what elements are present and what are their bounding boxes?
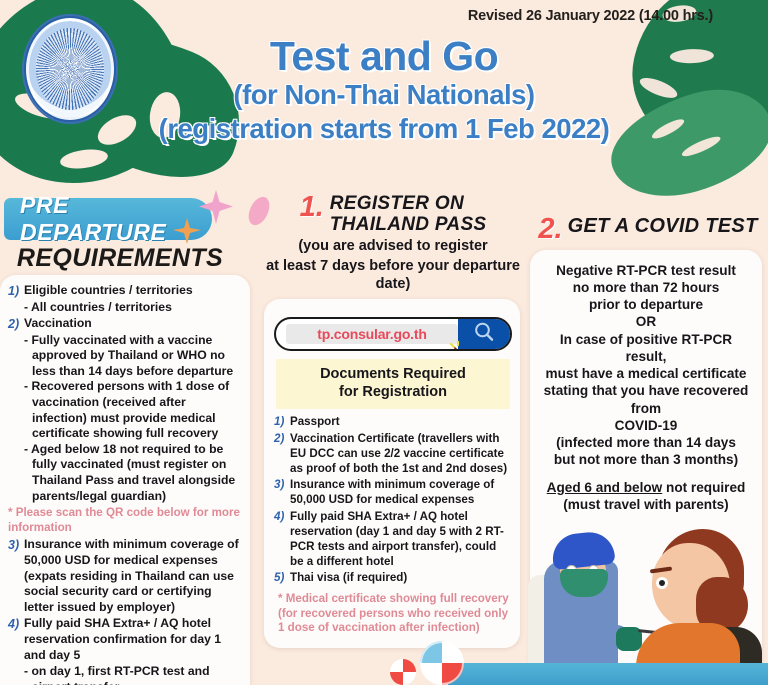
requirements-card: 1) Eligible countries / territories - Al…: [0, 275, 250, 685]
item-number: 1): [274, 415, 290, 430]
page-subtitle-2: (registration starts from 1 Feb 2022): [0, 112, 768, 146]
revised-date: Revised 26 January 2022 (14.00 hrs.): [468, 8, 713, 24]
item-number: 3): [8, 537, 24, 553]
covid-test-column: 2. GET A COVID TEST Negative RT-PCR test…: [528, 190, 768, 675]
url-search-bar[interactable]: tp.consular.go.th: [274, 317, 512, 351]
medical-certificate-note: * Medical certificate showing full recov…: [274, 592, 512, 635]
item-number: 4): [274, 510, 290, 525]
item-number: 4): [8, 616, 24, 632]
qr-note: * Please scan the QR code below for more…: [8, 506, 240, 535]
item-text: Insurance with minimum coverage of 50,00…: [24, 537, 240, 615]
item-number: 1): [8, 283, 24, 299]
step-title-line-2: THAILAND PASS: [330, 214, 487, 235]
doctor-swab-test-illustration: [538, 519, 754, 669]
step-title: GET A COVID TEST: [568, 216, 758, 238]
register-thailand-pass-column: 1. REGISTER ON THAILAND PASS (you are ad…: [262, 190, 524, 648]
title-block: Test and Go (for Non-Thai Nationals) (re…: [0, 34, 768, 145]
item-sub: - Fully vaccinated with a vaccine approv…: [24, 333, 240, 380]
item-sub: - Aged below 18 not required to be fully…: [24, 442, 240, 504]
requirements-heading: REQUIREMENTS: [0, 244, 258, 273]
documents-list: 1) Passport 2) Vaccination Certificate (…: [274, 415, 512, 586]
list-item: 5) Thai visa (if required): [274, 571, 512, 586]
list-item: 4) Fully paid SHA Extra+ / AQ hotel rese…: [274, 510, 512, 569]
doctor-surgical-cap-icon: [550, 530, 615, 570]
list-item: 1) Eligible countries / territories: [8, 283, 240, 299]
covid-test-text: Negative RT-PCR test result no more than…: [538, 262, 754, 514]
requirements-list: 1) Eligible countries / territories - Al…: [8, 283, 240, 685]
infographic-page: Revised 26 January 2022 (14.00 hrs.) Tes…: [0, 0, 768, 685]
item-text: Eligible countries / territories: [24, 283, 193, 299]
covid-line: Negative RT-PCR test result: [538, 262, 754, 279]
step-2-heading: 2. GET A COVID TEST: [528, 216, 768, 244]
age-rule-rest: not required: [662, 480, 745, 495]
item-text: Vaccination Certificate (travellers with…: [290, 432, 512, 476]
item-number: 3): [274, 478, 290, 493]
pre-departure-column: PRE DEPARTURE REQUIREMENTS 1) Eligible c…: [0, 190, 258, 685]
beach-ball-icon-small: [390, 659, 416, 685]
step-number: 2.: [538, 216, 562, 244]
item-number: 5): [274, 571, 290, 586]
list-item: 3) Insurance with minimum coverage of 50…: [274, 478, 512, 508]
step-title: REGISTER ON THAILAND PASS: [330, 194, 487, 235]
sea-strip-decoration: [448, 663, 768, 685]
list-item: 1) Passport: [274, 415, 512, 430]
item-text: Vaccination: [24, 316, 92, 332]
item-text: Insurance with minimum coverage of 50,00…: [290, 478, 512, 508]
item-number: 2): [274, 432, 290, 447]
age-rule-sub: (must travel with parents): [538, 496, 754, 513]
beach-ball-icon: [420, 641, 464, 685]
covid-line: In case of positive RT-PCR result,: [538, 331, 754, 366]
item-number: 2): [8, 316, 24, 332]
registration-card: tp.consular.go.th Doc: [264, 299, 520, 648]
page-subtitle-1: (for Non-Thai Nationals): [0, 78, 768, 112]
documents-required-box: Documents Required for Registration: [276, 359, 510, 409]
documents-required-line-1: Documents Required: [280, 366, 506, 384]
list-item: 2) Vaccination Certificate (travellers w…: [274, 432, 512, 476]
step-number: 1.: [300, 194, 324, 222]
covid-line: stating that you have recovered from: [538, 382, 754, 417]
patient-eye: [656, 577, 668, 589]
covid-test-card: Negative RT-PCR test result no more than…: [530, 250, 762, 676]
item-text: Passport: [290, 415, 340, 430]
covid-line: OR: [538, 313, 754, 330]
covid-line: prior to departure: [538, 296, 754, 313]
list-item: 4) Fully paid SHA Extra+ / AQ hotel rese…: [8, 616, 240, 663]
page-title: Test and Go: [0, 34, 768, 78]
step-note-line-2: at least 7 days before your departure da…: [262, 258, 524, 293]
item-text: Fully paid SHA Extra+ / AQ hotel reserva…: [290, 510, 512, 569]
covid-line: (infected more than 14 days: [538, 434, 754, 451]
star-icon-pink: [196, 188, 236, 226]
age-rule-underlined: Aged 6 and below: [547, 480, 663, 495]
covid-line: no more than 72 hours: [538, 279, 754, 296]
covid-line: must have a medical certificate: [538, 365, 754, 382]
step-title-line-1: REGISTER ON: [330, 193, 464, 214]
item-sub: - on day 1, first RT-PCR test and airpor…: [24, 664, 240, 685]
pre-departure-banner: PRE DEPARTURE: [4, 198, 212, 240]
list-item: 3) Insurance with minimum coverage of 50…: [8, 537, 240, 615]
item-text: Thai visa (if required): [290, 571, 407, 586]
documents-required-line-2: for Registration: [280, 384, 506, 402]
covid-line: COVID-19: [538, 417, 754, 434]
age-rule: Aged 6 and below not required: [538, 479, 754, 496]
item-sub: - All countries / territories: [24, 300, 240, 316]
step-1-heading: 1. REGISTER ON THAILAND PASS: [262, 194, 524, 235]
step-note-line-1: (you are advised to register: [262, 238, 524, 255]
mouse-cursor-icon: [446, 341, 486, 351]
search-input-value: tp.consular.go.th: [317, 326, 426, 342]
search-input[interactable]: tp.consular.go.th: [286, 324, 458, 344]
item-text: Fully paid SHA Extra+ / AQ hotel reserva…: [24, 616, 240, 663]
covid-line: but not more than 3 months): [538, 451, 754, 468]
list-item: 2) Vaccination: [8, 316, 240, 332]
item-sub: - Recovered persons with 1 dose of vacci…: [24, 379, 240, 441]
